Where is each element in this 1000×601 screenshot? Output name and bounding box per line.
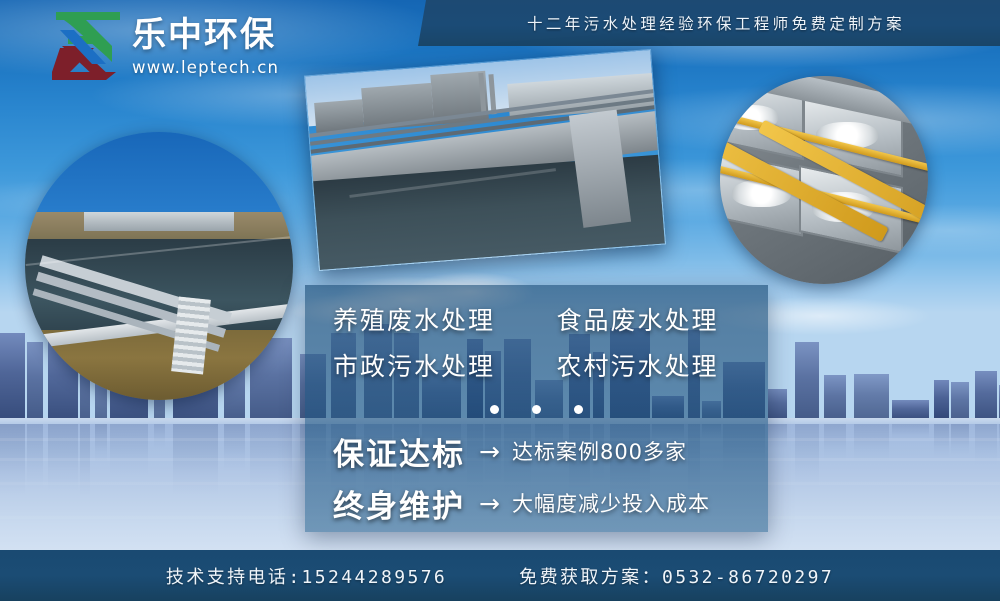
arrow-right-icon: → [479, 439, 500, 464]
building-shape [892, 400, 929, 420]
building-shape [934, 380, 949, 420]
service-item-1[interactable]: 食品废水处理 [537, 301, 741, 341]
service-item-3[interactable]: 农村污水处理 [537, 347, 741, 387]
promo-key-0: 保证达标 [333, 429, 465, 474]
header-banner-text: 十二年污水处理经验环保工程师免费定制方案 [513, 12, 905, 34]
services-panel: 养殖废水处理 食品废水处理 市政污水处理 农村污水处理 保证达标 → 达标案例8… [305, 285, 768, 532]
brand-name-cn: 乐中环保 [132, 16, 279, 54]
dots-separator [305, 405, 768, 414]
brand-logo[interactable]: 乐中环保 www.leptech.cn [48, 12, 298, 84]
support-phone-text[interactable]: 技术支持电话:15244289576 [166, 563, 447, 589]
building-reflection [110, 424, 148, 475]
promo-key-1: 终身维护 [333, 481, 465, 526]
promo-row: 保证达标 → 达标案例800多家 [333, 425, 748, 477]
dot-icon [574, 405, 583, 414]
promo-value-0: 达标案例800多家 [512, 436, 687, 466]
header-banner: 十二年污水处理经验环保工程师免费定制方案 [418, 0, 1000, 46]
photo-right-aeration [720, 76, 928, 284]
building-reflection [854, 424, 889, 462]
building-shape [768, 389, 787, 420]
brand-website: www.leptech.cn [132, 58, 279, 77]
promo-row: 终身维护 → 大幅度减少投入成本 [333, 477, 748, 529]
building-reflection [224, 424, 245, 471]
building-shape [0, 333, 25, 420]
building-reflection [27, 424, 43, 488]
service-item-2[interactable]: 市政污水处理 [333, 347, 537, 387]
promo-value-1: 大幅度减少投入成本 [512, 488, 710, 518]
building-shape [951, 382, 969, 420]
service-item-0[interactable]: 养殖废水处理 [333, 301, 537, 341]
building-reflection [154, 424, 165, 449]
building-shape [975, 371, 997, 420]
promo-list: 保证达标 → 达标案例800多家 终身维护 → 大幅度减少投入成本 [333, 425, 748, 529]
building-shape [824, 375, 846, 420]
dot-icon [532, 405, 541, 414]
footer-contact-bar: 技术支持电话:15244289576 免费获取方案：0532-86720297 [0, 550, 1000, 601]
service-list: 养殖废水处理 食品废水处理 市政污水处理 农村污水处理 [305, 301, 768, 387]
building-shape [854, 374, 889, 420]
building-shape [795, 342, 819, 420]
building-reflection [768, 424, 787, 449]
building-reflection [824, 424, 846, 461]
arrow-right-icon: → [479, 491, 500, 516]
photo-center-plant [304, 49, 666, 271]
banner-stage: 十二年污水处理经验环保工程师免费定制方案 乐中环保 www.leptech.cn [0, 0, 1000, 601]
brand-logo-text: 乐中环保 www.leptech.cn [132, 16, 279, 77]
z-logo-icon [48, 12, 124, 80]
building-reflection [795, 424, 819, 488]
photo-left-clarifier [25, 132, 293, 400]
quote-phone-text[interactable]: 免费获取方案：0532-86720297 [519, 563, 834, 589]
dot-icon [490, 405, 499, 414]
